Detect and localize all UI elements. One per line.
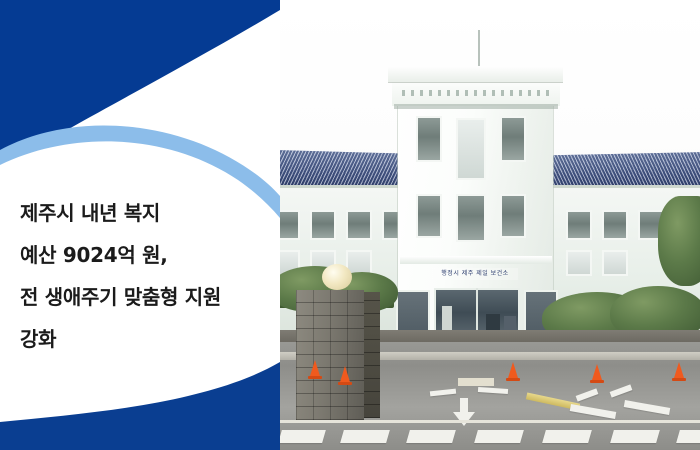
window xyxy=(568,252,590,274)
crosswalk-stripe xyxy=(676,430,700,443)
tower-window xyxy=(418,196,440,236)
entrance-canopy xyxy=(400,256,552,264)
bottom-blue-wave xyxy=(0,362,280,450)
flagpole xyxy=(478,30,480,70)
crosswalk-stripe xyxy=(280,430,326,443)
window xyxy=(280,212,298,238)
tower-window xyxy=(502,196,524,236)
traffic-cone xyxy=(674,362,686,381)
window xyxy=(312,212,334,238)
photo-jeju-city-hall: 행정시 제주 제일 보건소 xyxy=(280,0,700,450)
traffic-cone xyxy=(592,364,604,383)
headline-text: 제주시 내년 복지 예산 9024억 원, 전 생애주기 맞춤형 지원 강화 xyxy=(20,192,268,360)
window xyxy=(568,212,590,238)
window xyxy=(348,212,370,238)
road-arrow-head xyxy=(453,412,475,426)
lane-line xyxy=(280,420,700,423)
tower-window xyxy=(502,118,524,160)
building-sign: 행정시 제주 제일 보건소 xyxy=(432,268,518,280)
traffic-cone xyxy=(508,362,520,381)
window xyxy=(348,252,370,274)
traffic-cone xyxy=(310,360,322,379)
window xyxy=(604,212,626,238)
tower-cap xyxy=(388,66,563,82)
tower-window xyxy=(458,196,484,240)
tree xyxy=(658,196,700,286)
crosswalk-stripe xyxy=(610,430,660,443)
headline-panel: 제주시 내년 복지 예산 9024억 원, 전 생애주기 맞춤형 지원 강화 xyxy=(0,0,280,450)
crosswalk-stripe xyxy=(406,430,456,443)
stone-gate-pillar xyxy=(296,290,364,420)
stone-gate-pillar-side xyxy=(364,292,380,418)
news-thumbnail-card: 행정시 제주 제일 보건소 xyxy=(0,0,700,450)
globe-lamp xyxy=(322,264,352,290)
tower-dentil-row xyxy=(402,90,550,96)
window xyxy=(604,252,626,274)
crosswalk-stripe xyxy=(340,430,390,443)
traffic-cone xyxy=(340,366,352,385)
road-block xyxy=(458,378,494,386)
tower-window xyxy=(418,118,440,160)
crosswalk-stripe xyxy=(474,430,524,443)
crosswalk-stripe xyxy=(542,430,592,443)
tower-cornice-shadow xyxy=(394,104,558,109)
tower-window-center xyxy=(458,120,484,178)
